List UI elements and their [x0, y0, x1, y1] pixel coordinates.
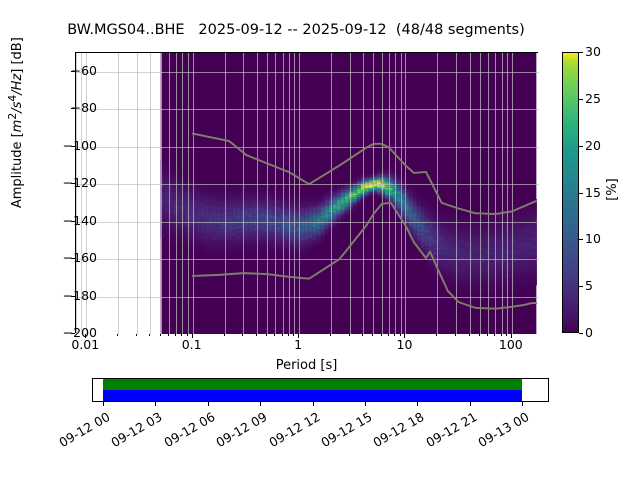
coverage-tick-label: 09-12 21 [420, 409, 479, 452]
x-axis-tick-mark [85, 334, 86, 338]
x-axis-minor-tick-mark [187, 334, 188, 336]
x-axis-minor-tick-mark [117, 334, 118, 336]
colorbar-tick-label: 30 [585, 44, 601, 59]
coverage-tick-mark [313, 402, 314, 406]
coverage-tick-label: 09-12 09 [210, 409, 269, 452]
x-axis-minor-tick-mark [256, 334, 257, 336]
coverage-tick-mark [365, 402, 366, 406]
coverage-tick-mark [155, 402, 156, 406]
x-axis-minor-tick-mark [362, 334, 363, 336]
coverage-tick-mark [260, 402, 261, 406]
y-axis-tick-label: −180 [37, 288, 97, 303]
y-axis-tick-mark [71, 108, 75, 109]
y-axis-tick-label: −100 [37, 138, 97, 153]
y-axis-tick-label: −140 [37, 213, 97, 228]
x-axis-minor-tick-mark [372, 334, 373, 336]
colorbar-tick-label: 15 [585, 185, 601, 200]
x-axis-minor-tick-mark [274, 334, 275, 336]
x-axis-tick-mark [192, 334, 193, 338]
colorbar-tick-mark [579, 99, 583, 100]
x-axis-tick-mark [511, 334, 512, 338]
y-axis-label: Amplitude [m2/s4/Hz] [dB] [6, 0, 25, 263]
x-axis-minor-tick-mark [160, 334, 161, 336]
x-axis-minor-tick-mark [400, 334, 401, 336]
x-axis-minor-tick-mark [479, 334, 480, 336]
colorbar-tick-label: 25 [585, 91, 601, 106]
x-axis-minor-tick-mark [455, 334, 456, 336]
x-axis-minor-tick-mark [288, 334, 289, 336]
ppsd-plot-area[interactable] [75, 52, 538, 333]
x-axis-tick-mark [298, 334, 299, 338]
coverage-tick-label: 09-12 15 [315, 409, 374, 452]
y-axis-tick-label: −60 [37, 63, 97, 78]
y-axis-tick-label: −160 [37, 250, 97, 265]
x-axis-minor-tick-mark [330, 334, 331, 336]
y-axis-tick-mark [71, 146, 75, 147]
y-axis-tick-label: −120 [37, 175, 97, 190]
colorbar-tick-label: 10 [585, 231, 601, 246]
x-axis-minor-tick-mark [436, 334, 437, 336]
coverage-tick-label: 09-13 00 [472, 409, 531, 452]
colorbar-label: [%] [605, 178, 620, 201]
x-axis-minor-tick-mark [136, 334, 137, 336]
x-axis-tick-label: 1 [263, 337, 333, 352]
colorbar-tick-mark [579, 52, 583, 53]
x-axis-minor-tick-mark [149, 334, 150, 336]
colorbar-tick-mark [579, 333, 583, 334]
x-axis-minor-tick-mark [282, 334, 283, 336]
x-axis-minor-tick-mark [394, 334, 395, 336]
x-axis-minor-tick-mark [181, 334, 182, 336]
y-axis-tick-mark [71, 258, 75, 259]
x-axis-minor-tick-mark [168, 334, 169, 336]
x-axis-minor-tick-mark [469, 334, 470, 336]
coverage-tick-label: 09-12 06 [158, 409, 217, 452]
x-axis-minor-tick-mark [494, 334, 495, 336]
coverage-tick-label: 09-12 03 [105, 409, 164, 452]
coverage-plot-area[interactable] [92, 378, 549, 402]
y-axis-tick-mark [71, 221, 75, 222]
x-axis-minor-tick-mark [224, 334, 225, 336]
coverage-tick-label: 09-12 00 [53, 409, 112, 452]
y-axis-tick-mark [71, 296, 75, 297]
colorbar-tick-label: 0 [585, 325, 593, 340]
y-axis-tick-mark [71, 71, 75, 72]
coverage-tick-mark [208, 402, 209, 406]
coverage-tick-label: 09-12 12 [263, 409, 322, 452]
y-axis-tick-label: −80 [37, 100, 97, 115]
x-axis-label: Period [s] [75, 358, 538, 373]
x-axis-tick-label: 100 [476, 337, 546, 352]
x-axis-tick-mark [404, 334, 405, 338]
page-title: BW.MGS04..BHE 2025-09-12 -- 2025-09-12 (… [0, 22, 592, 38]
x-axis-minor-tick-mark [242, 334, 243, 336]
x-axis-minor-tick-mark [175, 334, 176, 336]
coverage-tick-mark [103, 402, 104, 406]
colorbar-tick-label: 20 [585, 138, 601, 153]
ppsd-figure: BW.MGS04..BHE 2025-09-12 -- 2025-09-12 (… [0, 0, 640, 480]
x-axis-minor-tick-mark [266, 334, 267, 336]
x-axis-tick-label: 0.1 [157, 337, 227, 352]
x-axis-minor-tick-mark [293, 334, 294, 336]
colorbar-tick-label: 5 [585, 278, 593, 293]
x-axis-tick-label: 10 [369, 337, 439, 352]
coverage-tick-mark [470, 402, 471, 406]
x-axis-minor-tick-mark [506, 334, 507, 336]
colorbar-tick-mark [579, 146, 583, 147]
coverage-tick-mark [522, 402, 523, 406]
colorbar-tick-mark [579, 286, 583, 287]
colorbar[interactable] [562, 52, 579, 333]
x-axis-minor-tick-mark [388, 334, 389, 336]
y-axis-tick-mark [71, 333, 75, 334]
coverage-tick-label: 09-12 18 [367, 409, 426, 452]
x-axis-minor-tick-mark [501, 334, 502, 336]
x-axis-minor-tick-mark [381, 334, 382, 336]
y-axis-tick-mark [71, 183, 75, 184]
colorbar-tick-mark [579, 239, 583, 240]
x-axis-minor-tick-mark [487, 334, 488, 336]
x-axis-tick-label: 0.01 [50, 337, 120, 352]
coverage-tick-mark [417, 402, 418, 406]
x-axis-minor-tick-mark [349, 334, 350, 336]
coverage-band-green [103, 379, 522, 390]
coverage-band-blue [103, 390, 522, 401]
ppsd-histogram-canvas [76, 53, 539, 334]
colorbar-tick-mark [579, 193, 583, 194]
